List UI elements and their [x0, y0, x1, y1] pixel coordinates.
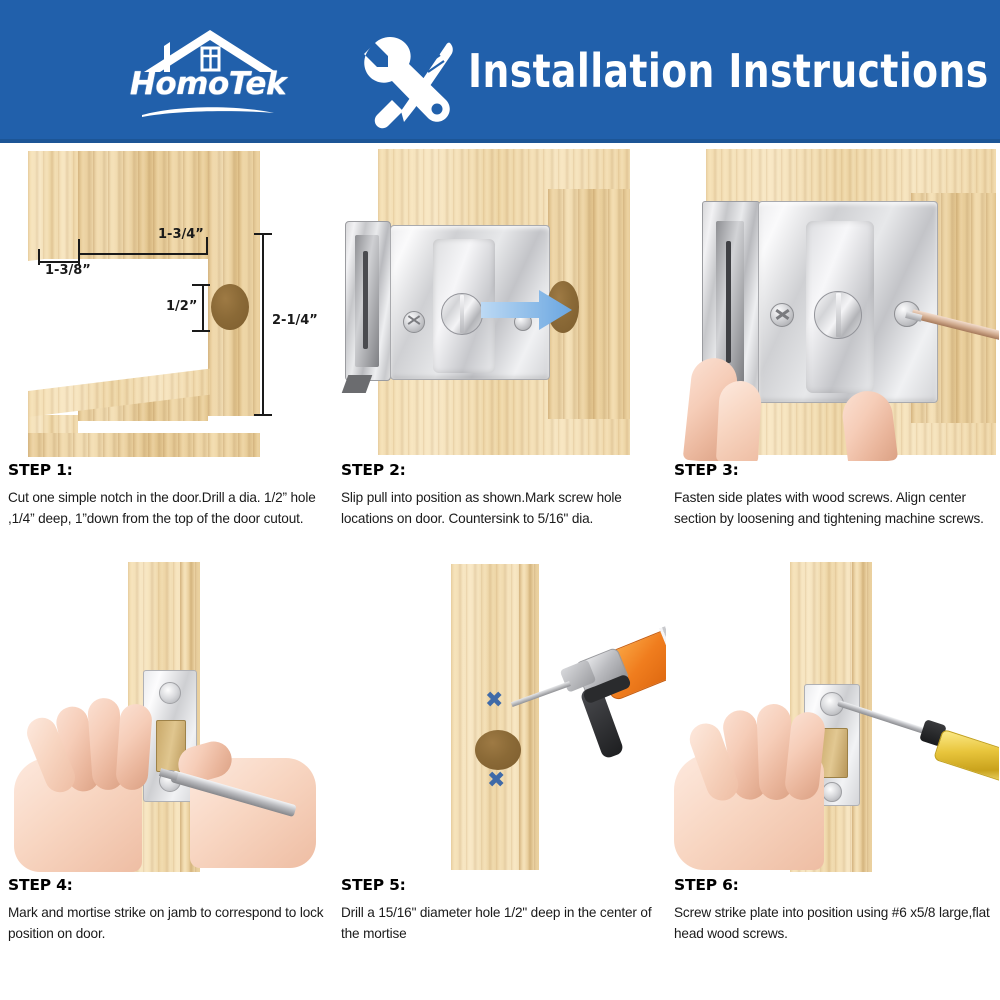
thumb-turn-tab: [460, 295, 464, 333]
direction-arrow-icon: [481, 289, 573, 331]
dim-label-depth: 1-3/8”: [45, 263, 91, 278]
page-header: HomoTek Installation Instructions: [0, 0, 1000, 143]
dim-tick-height-bottom: [254, 414, 272, 416]
dim-line-width: [78, 253, 208, 255]
figure-fasten-side-plates: [666, 143, 999, 461]
step-text-2: STEP 2: Slip pull into position as shown…: [333, 461, 666, 529]
finger-ring: [115, 703, 153, 791]
step-cell-3: STEP 3: Fasten side plates with wood scr…: [666, 143, 999, 529]
figure-screw-strike-plate: [666, 558, 999, 876]
step-body-1: Cut one simple notch in the door.Drill a…: [8, 488, 325, 529]
figure-mark-strike-jamb: [0, 558, 333, 876]
mark-x-bottom: ✖: [487, 770, 505, 792]
step-body-3: Fasten side plates with wood screws. Ali…: [674, 488, 991, 529]
mark-x-top: ✖: [485, 690, 503, 712]
figure-door-notch-diagram: 1-3/4” 1-3/8” 1/2” 2-1/4”: [0, 143, 333, 461]
step-heading-1: STEP 1:: [8, 461, 325, 479]
drill-hole: [211, 284, 249, 330]
dim-label-height: 2-1/4”: [272, 313, 318, 328]
step-heading-6: STEP 6:: [674, 876, 991, 894]
side-channel-foot: [342, 375, 373, 393]
step-text-3: STEP 3: Fasten side plates with wood scr…: [666, 461, 999, 529]
step-cell-4: STEP 4: Mark and mortise strike on jamb …: [0, 558, 333, 944]
step-text-6: STEP 6: Screw strike plate into position…: [666, 876, 999, 944]
step-cell-1: 1-3/4” 1-3/8” 1/2” 2-1/4” STEP 1: Cut on…: [0, 143, 333, 529]
door-top-face: [78, 151, 208, 259]
brand-logo: HomoTek: [118, 28, 298, 120]
dim-tick-hole-bottom: [192, 330, 210, 332]
door-notch-wall: [208, 151, 260, 416]
wrench-screwdriver-icon: [358, 36, 462, 132]
step-cell-2: STEP 2: Slip pull into position as shown…: [333, 143, 666, 529]
steps-grid: 1-3/4” 1-3/8” 1/2” 2-1/4” STEP 1: Cut on…: [0, 143, 1000, 1000]
dim-line-hole: [202, 284, 204, 332]
screwdriver-handle: [933, 729, 999, 785]
door-jamb-shade: [519, 564, 539, 870]
strike-screw-hole-bottom: [822, 782, 842, 802]
step-body-6: Screw strike plate into position using #…: [674, 903, 991, 944]
step-heading-2: STEP 2:: [341, 461, 658, 479]
step-cell-6: STEP 6: Screw strike plate into position…: [666, 558, 999, 944]
step-heading-4: STEP 4:: [8, 876, 325, 894]
side-channel-groove: [726, 241, 731, 363]
step-text-1: STEP 1: Cut one simple notch in the door…: [0, 461, 333, 529]
finger-left-2: [716, 380, 762, 461]
door-base: [28, 433, 260, 457]
step-text-4: STEP 4: Mark and mortise strike on jamb …: [0, 876, 333, 944]
dim-label-hole: 1/2”: [166, 299, 197, 314]
strike-screw-hole-top: [159, 682, 181, 704]
step-heading-5: STEP 5:: [341, 876, 658, 894]
dim-tick-hole-top: [192, 284, 210, 286]
dim-label-width: 1-3/4”: [158, 227, 204, 242]
brand-name: HomoTek: [118, 66, 298, 102]
logo-swoosh: [138, 104, 278, 118]
thumb-turn-tab: [836, 293, 841, 337]
drilled-hole: [475, 730, 521, 770]
step-body-5: Drill a 15/16" diameter hole 1/2" deep i…: [341, 903, 658, 944]
figure-pull-insertion: [333, 143, 666, 461]
figure-drill-mortise-hole: ✖ ✖: [333, 558, 666, 876]
dim-line-height: [262, 233, 264, 416]
dim-tick-depth-left: [38, 249, 40, 265]
step-text-5: STEP 5: Drill a 15/16" diameter hole 1/2…: [333, 876, 666, 944]
dim-tick-width-right: [206, 237, 208, 255]
step-body-2: Slip pull into position as shown.Mark sc…: [341, 488, 658, 529]
side-channel-groove: [363, 251, 368, 349]
step-cell-5: ✖ ✖ STEP 5: Drill a 15/16" diameter hole…: [333, 558, 666, 944]
step-body-4: Mark and mortise strike on jamb to corre…: [8, 903, 325, 944]
page-title: Installation Instructions: [468, 44, 989, 98]
dim-tick-height-top: [254, 233, 272, 235]
step-heading-3: STEP 3:: [674, 461, 991, 479]
